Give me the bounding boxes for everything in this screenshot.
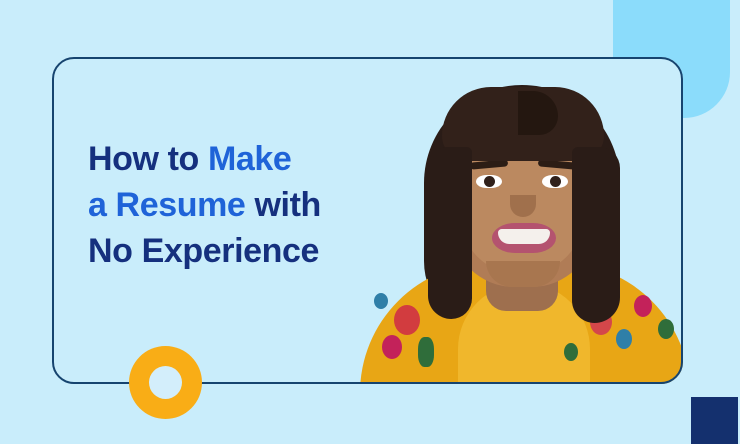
bottom-right-navy-square <box>691 397 738 444</box>
page-title: How to Make a Resume with No Experience <box>88 136 388 274</box>
title-segment-with: with <box>254 186 320 224</box>
title-segment-no-experience: No Experience <box>88 232 319 270</box>
title-segment-make: Make <box>208 140 291 178</box>
orange-ring <box>129 346 202 419</box>
video-thumbnail-canvas: How to Make a Resume with No Experience <box>0 0 740 444</box>
title-segment-a-resume: a Resume <box>88 186 254 224</box>
title-segment-how-to: How to <box>88 140 208 178</box>
orange-ring-hole <box>149 366 182 399</box>
